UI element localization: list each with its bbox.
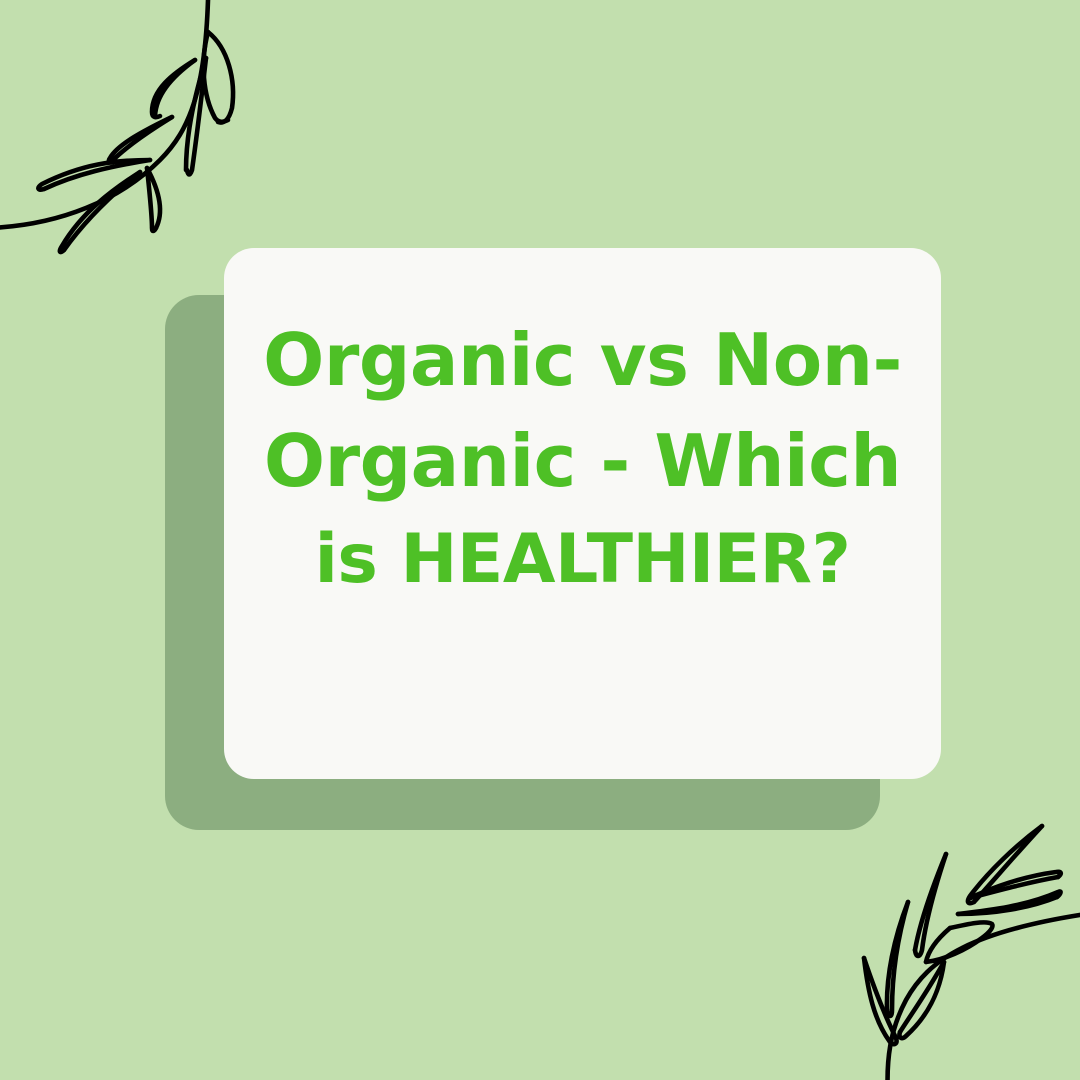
leaf-branch-bottom-right-icon xyxy=(810,810,1080,1080)
leaf-branch-top-left-icon xyxy=(0,0,290,270)
poster-canvas: Organic vs Non- Organic - Which is HEALT… xyxy=(0,0,1080,1080)
title-line-3: is HEALTHIER? xyxy=(248,512,917,607)
content-card: Organic vs Non- Organic - Which is HEALT… xyxy=(224,248,941,779)
card-inner: Organic vs Non- Organic - Which is HEALT… xyxy=(224,248,941,779)
page-title: Organic vs Non- Organic - Which is HEALT… xyxy=(224,310,941,607)
title-line-1: Organic vs Non- xyxy=(248,310,917,411)
title-line-2: Organic - Which xyxy=(248,411,917,512)
